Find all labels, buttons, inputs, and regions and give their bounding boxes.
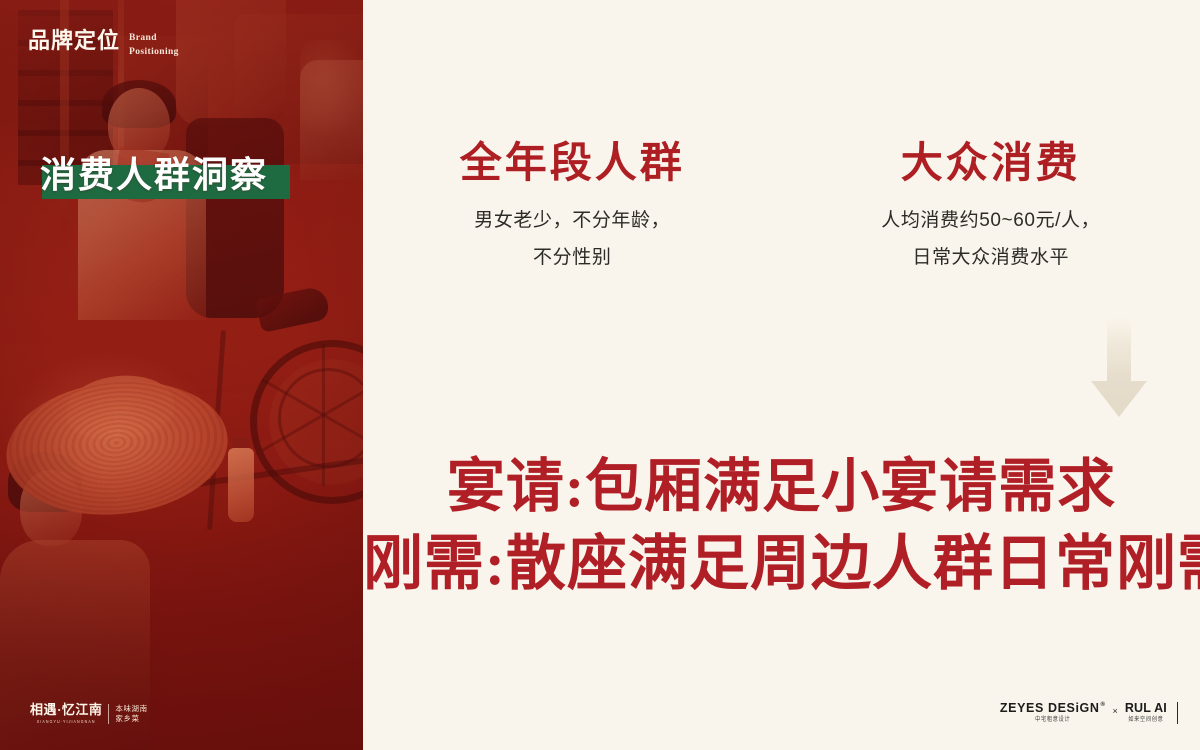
header-label-en-line1: Brand (129, 32, 179, 46)
registered-trademark-icon: ® (1101, 702, 1106, 708)
insight-heading-spending: 大众消费 (798, 140, 1185, 188)
studio-credit-logos: ZEYES DESiGN ® 中宅租意设计 × RUL AI 如来空间创意 (1000, 702, 1178, 724)
studio-logo-zeyes-cn: 中宅租意设计 (1035, 717, 1070, 724)
insight-subtext-audience-line1: 男女老少，不分年龄， (379, 202, 766, 239)
main-statement: 宴请:包厢满足小宴请需求 刚需:散座满足周边人群日常刚需 (363, 448, 1200, 605)
header-label-en-line2: Positioning (129, 46, 179, 60)
studio-logo-divider (1177, 702, 1178, 724)
brand-logo-divider (108, 704, 109, 724)
studio-logo-rulai: RUL AI 如来空间创意 (1125, 702, 1167, 723)
insight-subtext-spending-line2: 日常大众消费水平 (798, 239, 1185, 276)
main-statement-line2: 刚需:散座满足周边人群日常刚需 (363, 525, 1200, 605)
insight-column-audience: 全年段人群 男女老少，不分年龄， 不分性别 (363, 140, 782, 276)
studio-logo-rulai-cn: 如来空间创意 (1128, 717, 1163, 724)
insight-subtext-audience: 男女老少，不分年龄， 不分性别 (379, 202, 766, 276)
insight-subtext-spending-line1: 人均消费约50~60元/人， (798, 202, 1185, 239)
brand-logo-tagline-line1: 本味湖南 (115, 704, 147, 713)
arrow-down-icon (1089, 317, 1149, 417)
insight-subtext-spending: 人均消费约50~60元/人， 日常大众消费水平 (798, 202, 1185, 276)
insight-column-spending: 大众消费 人均消费约50~60元/人， 日常大众消费水平 (782, 140, 1200, 276)
brand-logo-tagline: 本味湖南 家乡菜 (115, 704, 147, 724)
content-area: 全年段人群 男女老少，不分年龄， 不分性别 大众消费 人均消费约50~60元/人… (363, 0, 1200, 750)
left-photo-panel (0, 0, 363, 750)
brand-logo: 相遇·忆江南 XIANGYU·YIJIANGNAN 本味湖南 家乡菜 (30, 703, 148, 724)
photo-top-gradient-band (0, 0, 363, 120)
brand-logo-tagline-line2: 家乡菜 (115, 714, 147, 723)
studio-logo-zeyes: ZEYES DESiGN ® 中宅租意设计 (1000, 702, 1106, 723)
insight-heading-audience: 全年段人群 (379, 140, 766, 188)
brand-logo-main: 相遇·忆江南 XIANGYU·YIJIANGNAN (30, 703, 102, 724)
studio-logo-zeyes-wordmark: ZEYES DESiGN (1000, 702, 1100, 715)
slide-root: 品牌定位 Brand Positioning 消费人群洞察 相遇·忆江南 XIA… (0, 0, 1200, 750)
insight-columns: 全年段人群 男女老少，不分年龄， 不分性别 大众消费 人均消费约50~60元/人… (363, 140, 1200, 276)
studio-logo-rulai-name: RUL AI (1125, 702, 1167, 715)
studio-logo-separator: × (1113, 706, 1118, 721)
brand-logo-pinyin: XIANGYU·YIJIANGNAN (37, 719, 96, 724)
header-label-en: Brand Positioning (129, 30, 179, 60)
brand-logo-name: 相遇·忆江南 (30, 703, 102, 717)
main-statement-line1: 宴请:包厢满足小宴请需求 (363, 448, 1200, 525)
header-label-cn: 品牌定位 (28, 30, 120, 52)
header-label: 品牌定位 Brand Positioning (28, 30, 179, 60)
section-title: 消费人群洞察 (40, 153, 268, 198)
insight-subtext-audience-line2: 不分性别 (379, 239, 766, 276)
studio-logo-zeyes-name: ZEYES DESiGN ® (1000, 702, 1106, 715)
